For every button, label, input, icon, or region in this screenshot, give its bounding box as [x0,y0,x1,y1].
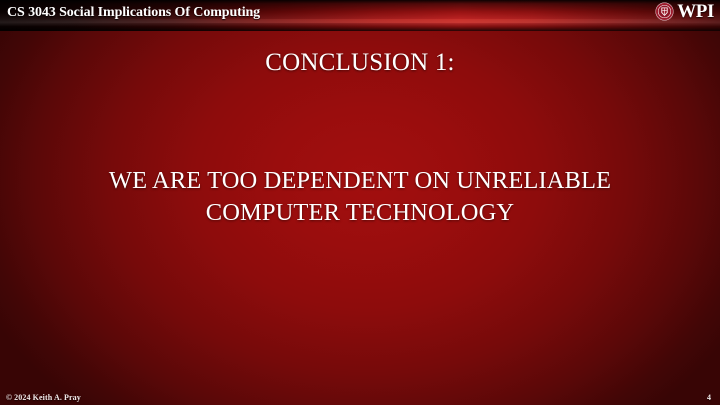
wpi-wordmark: WPI [677,2,714,21]
wpi-seal-icon [655,2,674,21]
slide-content: CONCLUSION 1: WE ARE TOO DEPENDENT ON UN… [0,31,720,383]
course-title: CS 3043 Social Implications Of Computing [7,5,260,21]
slide-heading: CONCLUSION 1: [0,49,720,77]
presentation-slide: CS 3043 Social Implications Of Computing… [0,0,720,405]
body-line-1: WE ARE TOO DEPENDENT ON UNRELIABLE [0,165,720,197]
wpi-logo: WPI [655,2,714,21]
slide-number: 4 [707,393,711,402]
slide-body-text: WE ARE TOO DEPENDENT ON UNRELIABLE COMPU… [0,165,720,229]
copyright-notice: © 2024 Keith A. Pray [6,393,81,402]
slide-footer: © 2024 Keith A. Pray 4 [0,383,720,405]
body-line-2: COMPUTER TECHNOLOGY [0,197,720,229]
slide-header-bar: CS 3043 Social Implications Of Computing… [0,0,720,31]
